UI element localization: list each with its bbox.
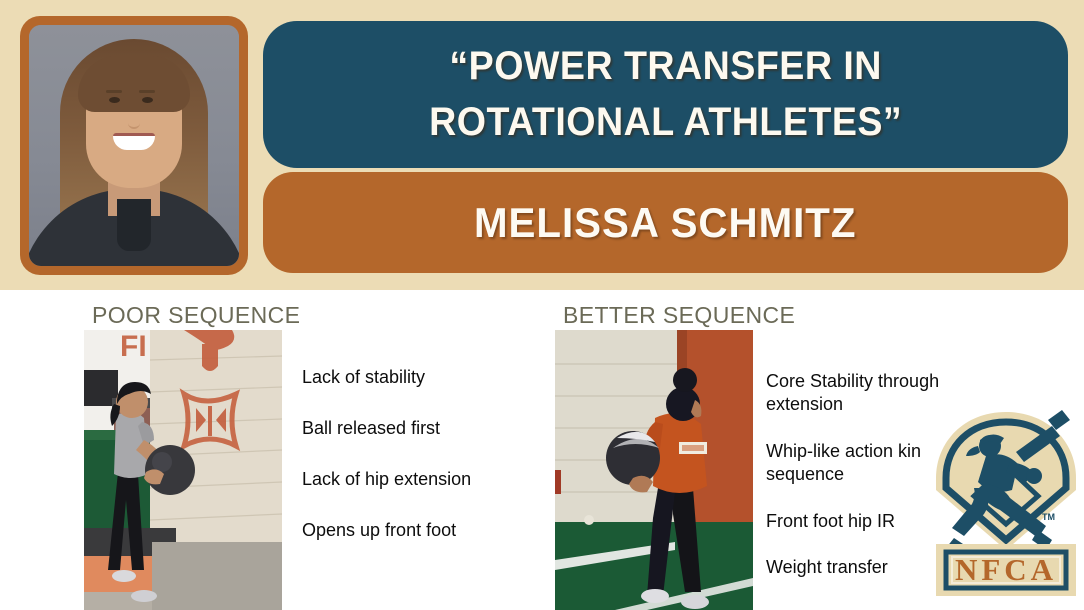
svg-text:FI: FI — [120, 330, 147, 363]
speaker-headshot-image — [29, 25, 239, 266]
photo-poor-sequence: FI — [84, 330, 282, 610]
section-heading-better-sequence: BETTER SEQUENCE — [563, 302, 795, 329]
nfca-trademark-mark: TM — [1042, 512, 1055, 522]
nfca-logo: TM NFCA — [930, 404, 1082, 604]
title-banner: “POWER TRANSFER IN ROTATIONAL ATHLETES” — [263, 21, 1068, 168]
nfca-logo-art: TM NFCA — [930, 404, 1082, 604]
speaker-name-banner: MELISSA SCHMITZ — [263, 172, 1068, 273]
title-line-2: ROTATIONAL ATHLETES” — [429, 100, 902, 144]
bullet-list-poor-sequence: Lack of stability Ball released first La… — [302, 366, 517, 570]
bullet-item: Lack of hip extension — [302, 468, 517, 491]
speaker-headshot-frame — [20, 16, 248, 275]
nfca-wordmark-text: NFCA — [955, 552, 1057, 587]
photo-better-sequence — [555, 330, 753, 610]
bullet-item-line-2: sequence — [766, 464, 844, 484]
speaker-name-text: MELISSA SCHMITZ — [474, 199, 857, 247]
bullet-item: Ball released first — [302, 417, 517, 440]
photo-poor-sequence-art: FI — [84, 330, 282, 610]
bullet-item: Lack of stability — [302, 366, 517, 389]
title-text: “POWER TRANSFER IN ROTATIONAL ATHLETES” — [405, 39, 927, 149]
bullet-item: Opens up front foot — [302, 519, 517, 542]
photo-better-sequence-art — [555, 330, 753, 610]
slide-canvas: “POWER TRANSFER IN ROTATIONAL ATHLETES” … — [0, 0, 1084, 610]
title-line-1: “POWER TRANSFER IN — [449, 44, 882, 88]
section-heading-poor-sequence: POOR SEQUENCE — [92, 302, 300, 329]
bullet-item-line-1: Whip-like action kin — [766, 441, 921, 461]
